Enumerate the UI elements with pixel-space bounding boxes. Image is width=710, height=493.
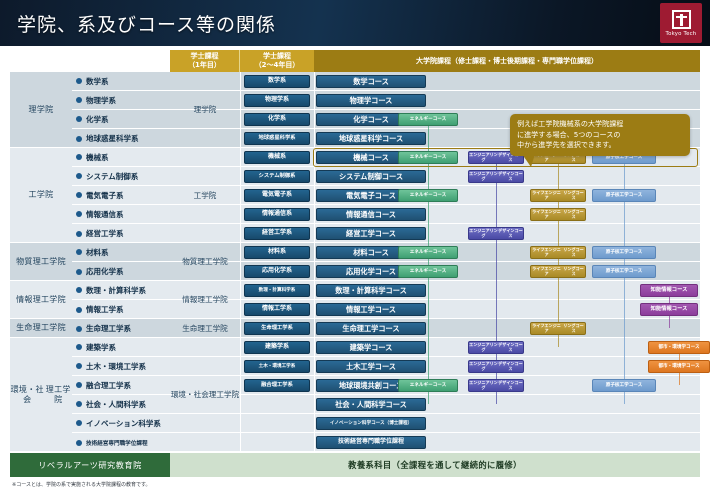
department-label: イノベーション科学系 (86, 418, 161, 429)
department-box[interactable]: 物理学系 (244, 94, 310, 107)
department-label: 物理学系 (86, 95, 116, 106)
course-box[interactable]: ライフエンジニアリングコース (530, 246, 586, 259)
department-box[interactable]: 応用化学系 (244, 265, 310, 278)
bullet-icon (76, 269, 82, 275)
main-course-box[interactable]: システム制御コース (316, 170, 426, 183)
department-label: 地球惑星科学系 (86, 133, 139, 144)
department-box[interactable]: 数学系 (244, 75, 310, 88)
bullet-icon (76, 382, 82, 388)
school-block: 理学院数学系物理学系化学系地球惑星科学系 (10, 72, 170, 148)
course-box[interactable]: エンジニアリングデザインコース (468, 379, 524, 392)
department-label: 技術経営専門職学位課程 (86, 439, 148, 447)
department-box[interactable]: 融合理工学系 (244, 379, 310, 392)
department-item[interactable]: 経営工学系 (72, 224, 170, 243)
bachelor-y24-line1: 学士課程 (255, 52, 300, 61)
course-box[interactable]: エネルギーコース (398, 113, 458, 126)
department-box[interactable]: 生命理工学系 (244, 322, 310, 335)
main-course-box[interactable]: 土木工学コース (316, 360, 426, 373)
department-item[interactable]: 材料系 (72, 243, 170, 262)
department-item[interactable]: 機械系 (72, 148, 170, 167)
school-name: 環境・社会理工学院 (10, 338, 72, 451)
bullet-icon (76, 192, 82, 198)
department-item[interactable]: 建築学系 (72, 338, 170, 357)
department-label: 数学系 (86, 76, 109, 87)
department-item[interactable]: 社会・人間科学系 (72, 395, 170, 414)
bullet-icon (76, 173, 82, 179)
footnote: ※コースとは、学院の系で実施される大学院課程の教育です。 (12, 481, 150, 488)
department-label: 情報通信系 (86, 209, 124, 220)
main-course-box[interactable]: 物理学コース (316, 94, 426, 107)
bachelor-y1-line2: （1年目） (188, 61, 221, 70)
department-label: 情報工学系 (86, 304, 124, 315)
department-box[interactable]: 土木・環境工学系 (244, 360, 310, 373)
department-box[interactable]: 材料系 (244, 246, 310, 259)
main-course-box[interactable]: 情報通信コース (316, 208, 426, 221)
course-box[interactable]: 知能情報コース (640, 303, 698, 316)
page-title: 学院、系及びコース等の関係 (17, 10, 276, 37)
department-box[interactable]: 情報工学系 (244, 303, 310, 316)
department-item[interactable]: 数理・計算科学系 (72, 281, 170, 300)
department-label: 融合理工学系 (86, 380, 131, 391)
grid-row (170, 414, 700, 433)
department-item[interactable]: 地球惑星科学系 (72, 129, 170, 148)
department-label: 応用化学系 (86, 266, 124, 277)
department-label: 材料系 (86, 247, 109, 258)
school-name-col2: 物質理工学院 (170, 243, 240, 281)
department-box[interactable]: 数理・計算科学系 (244, 284, 310, 297)
school-name-col2: 理学院 (170, 72, 240, 148)
department-item[interactable]: システム制御系 (72, 167, 170, 186)
department-item[interactable]: 数学系 (72, 72, 170, 91)
bullet-icon (76, 116, 82, 122)
main-course-box[interactable]: 社会・人間科学コース (316, 398, 426, 411)
department-box[interactable]: 経営工学系 (244, 227, 310, 240)
course-box[interactable]: エネルギーコース (398, 246, 458, 259)
school-block: 工学院機械系システム制御系電気電子系情報通信系経営工学系 (10, 148, 170, 243)
course-box[interactable]: 都市・環境学コース (648, 341, 710, 354)
course-box[interactable]: エンジニアリングデザインコース (468, 227, 524, 240)
bullet-icon (76, 154, 82, 160)
bullet-icon (76, 211, 82, 217)
bullet-icon (76, 420, 82, 426)
course-box[interactable]: 都市・環境学コース (648, 360, 710, 373)
department-item[interactable]: 情報工学系 (72, 300, 170, 319)
department-item[interactable]: 生命理工学系 (72, 319, 170, 338)
course-box[interactable]: ライフエンジニアリングコース (530, 189, 586, 202)
page-header: 学院、系及びコース等の関係 Tokyo Tech (0, 0, 710, 46)
tokyo-tech-logo-text: Tokyo Tech (666, 31, 697, 37)
school-block: 生命理工学院生命理工学系 (10, 319, 170, 338)
school-name: 物質理工学院 (10, 243, 72, 280)
bullet-icon (76, 249, 82, 255)
liberal-arts-institute-label: リベラルアーツ研究教育院 (10, 453, 170, 477)
department-list: 建築学系土木・環境工学系融合理工学系社会・人間科学系イノベーション科学系技術経営… (72, 338, 170, 451)
liberal-arts-band: リベラルアーツ研究教育院 教養系科目（全課程を通して継続的に履修） (10, 453, 700, 477)
course-box[interactable]: エネルギーコース (398, 151, 458, 164)
column-header-bachelor-year1: 学士課程 （1年目） (170, 50, 240, 72)
main-course-box[interactable]: イノベーション科学コース（博士課程） (316, 417, 426, 430)
department-item[interactable]: 電気電子系 (72, 186, 170, 205)
bullet-icon (76, 136, 82, 142)
department-box[interactable]: 機械系 (244, 151, 310, 164)
callout-line: に進学する場合、5つのコースの (517, 130, 683, 141)
course-box[interactable]: 原子核工学コース (592, 265, 656, 278)
bullet-icon (76, 287, 82, 293)
bullet-icon (76, 97, 82, 103)
course-box[interactable]: 原子核工学コース (592, 189, 656, 202)
course-box[interactable]: 原子核工学コース (592, 246, 656, 259)
department-list: 機械系システム制御系電気電子系情報通信系経営工学系 (72, 148, 170, 242)
course-box[interactable]: ライフエンジニアリングコース (530, 322, 586, 335)
column-divider (314, 72, 315, 453)
tokyo-tech-logo: Tokyo Tech (660, 3, 702, 43)
callout-line: 例えば工学院機械系の大学院課程 (517, 119, 683, 130)
main-course-box[interactable]: 技術経営専門職学位課程 (316, 436, 426, 449)
course-box[interactable]: エンジニアリングデザインコース (468, 360, 524, 373)
course-box[interactable]: 原子核工学コース (592, 379, 656, 392)
liberal-arts-subjects-label: 教養系科目（全課程を通して継続的に履修） (170, 453, 700, 477)
bullet-icon (76, 326, 82, 332)
column-header-bachelor-year2to4: 学士課程 （2〜4年目） (240, 50, 314, 72)
department-item[interactable]: 応用化学系 (72, 262, 170, 281)
relationship-chart: 学士課程 （1年目） 学士課程 （2〜4年目） 大学院課程（修士課程・博士後期課… (10, 50, 700, 477)
department-box[interactable]: 建築学系 (244, 341, 310, 354)
bullet-icon (76, 363, 82, 369)
main-course-box[interactable]: 経営工学コース (316, 227, 426, 240)
bullet-icon (76, 344, 82, 350)
tokyo-tech-emblem-icon (672, 10, 691, 29)
grid-row (170, 395, 700, 414)
course-box[interactable]: エネルギーコース (398, 379, 458, 392)
department-label: 化学系 (86, 114, 109, 125)
department-item[interactable]: 融合理工学系 (72, 376, 170, 395)
column-header-graduate: 大学院課程（修士課程・博士後期課程・専門職学位課程） (314, 50, 700, 72)
page-root: 学院、系及びコース等の関係 Tokyo Tech 学士課程 （1年目） 学士課程… (0, 0, 710, 493)
school-name-col2: 環境・社会理工学院 (170, 338, 240, 452)
department-item[interactable]: 化学系 (72, 110, 170, 129)
school-name-col2: 情報理工学院 (170, 281, 240, 319)
school-name: 理学院 (10, 72, 72, 147)
course-grid: 理学院工学院物質理工学院情報理工学院生命理工学院環境・社会理工学院数学系数学コー… (170, 72, 700, 453)
school-name-col2: 生命理工学院 (170, 319, 240, 338)
column-divider (240, 72, 241, 453)
department-label: 建築学系 (86, 342, 116, 353)
department-label: 社会・人間科学系 (86, 399, 146, 410)
department-item[interactable]: 情報通信系 (72, 205, 170, 224)
department-label: システム制御系 (86, 171, 138, 182)
main-course-box[interactable]: 数学コース (316, 75, 426, 88)
department-box[interactable]: 情報通信系 (244, 208, 310, 221)
course-box[interactable]: 知能情報コース (640, 284, 698, 297)
bullet-icon (76, 231, 82, 237)
school-block: 環境・社会理工学院建築学系土木・環境工学系融合理工学系社会・人間科学系イノベーシ… (10, 338, 170, 452)
course-box[interactable]: エネルギーコース (398, 265, 458, 278)
department-label: 生命理工学系 (86, 323, 131, 334)
department-label: 機械系 (86, 152, 109, 163)
bullet-icon (76, 401, 82, 407)
school-name: 情報理工学院 (10, 281, 72, 318)
department-box[interactable]: 電気電子系 (244, 189, 310, 202)
course-box[interactable]: ライフエンジニアリングコース (530, 265, 586, 278)
course-box[interactable]: エンジニアリングデザインコース (468, 341, 524, 354)
main-course-box[interactable]: 建築学コース (316, 341, 426, 354)
department-box[interactable]: 地球惑星科学系 (244, 132, 310, 145)
course-box[interactable]: ライフエンジニアリングコース (530, 208, 586, 221)
department-list: 生命理工学系 (72, 319, 170, 337)
bullet-icon (76, 78, 82, 84)
department-list: 材料系応用化学系 (72, 243, 170, 280)
callout-tail-icon (522, 154, 535, 167)
school-name-col2: 工学院 (170, 148, 240, 243)
bachelor-y1-line1: 学士課程 (188, 52, 221, 61)
department-label: 電気電子系 (86, 190, 124, 201)
department-label: 数理・計算科学系 (86, 285, 146, 296)
bachelor-y24-line2: （2〜4年目） (255, 61, 300, 70)
department-list: 数学系物理学系化学系地球惑星科学系 (72, 72, 170, 147)
grid-row (170, 433, 700, 452)
school-block: 物質理工学院材料系応用化学系 (10, 243, 170, 281)
bullet-icon (76, 440, 82, 446)
department-box[interactable]: システム制御系 (244, 170, 310, 183)
department-list: 数理・計算科学系情報工学系 (72, 281, 170, 318)
school-name: 生命理工学院 (10, 319, 72, 337)
main-course-box[interactable]: 生命理工学コース (316, 322, 426, 335)
school-name: 工学院 (10, 148, 72, 242)
department-item[interactable]: 物理学系 (72, 91, 170, 110)
main-course-box[interactable]: 情報工学コース (316, 303, 426, 316)
bullet-icon (76, 307, 82, 313)
department-label: 土木・環境工学系 (86, 361, 146, 372)
chart-body: 理学院数学系物理学系化学系地球惑星科学系工学院機械系システム制御系電気電子系情報… (10, 72, 700, 453)
course-box[interactable]: エンジニアリングデザインコース (468, 170, 524, 183)
callout-line: 中から進学先を選択できます。 (517, 140, 683, 151)
department-item[interactable]: 技術経営専門職学位課程 (72, 433, 170, 452)
info-callout: 例えば工学院機械系の大学院課程に進学する場合、5つのコースの中から進学先を選択で… (510, 114, 690, 156)
course-box[interactable]: エネルギーコース (398, 189, 458, 202)
department-box[interactable]: 化学系 (244, 113, 310, 126)
department-item[interactable]: 土木・環境工学系 (72, 357, 170, 376)
main-course-box[interactable]: 数理・計算科学コース (316, 284, 426, 297)
main-course-box[interactable]: 地球惑星科学コース (316, 132, 426, 145)
school-block: 情報理工学院数理・計算科学系情報工学系 (10, 281, 170, 319)
department-label: 経営工学系 (86, 228, 124, 239)
department-item[interactable]: イノベーション科学系 (72, 414, 170, 433)
